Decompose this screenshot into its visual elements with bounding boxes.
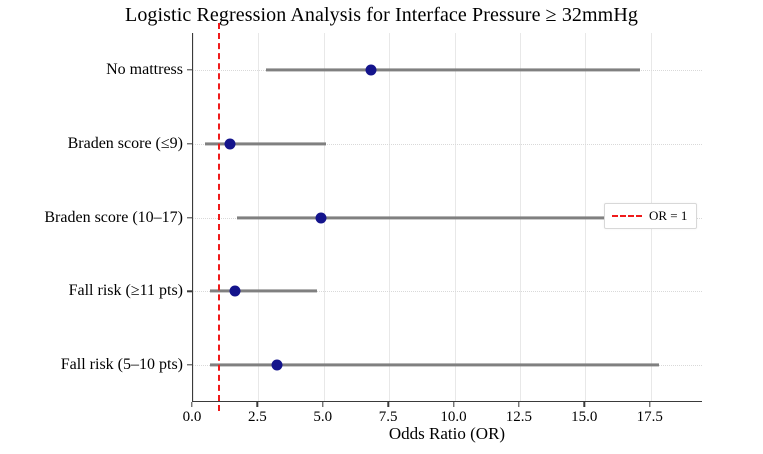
y-tick-mark bbox=[187, 291, 192, 292]
odds-ratio-point bbox=[224, 138, 235, 149]
x-tick-mark bbox=[257, 402, 258, 407]
x-axis-label: Odds Ratio (OR) bbox=[192, 424, 702, 444]
x-tick-mark bbox=[387, 402, 388, 407]
confidence-interval-bar bbox=[210, 290, 317, 293]
confidence-interval-bar bbox=[205, 142, 327, 145]
y-tick-label-category: Braden score (≤9) bbox=[68, 135, 183, 153]
y-tick-mark bbox=[187, 69, 192, 70]
legend-label-or-1: OR = 1 bbox=[649, 208, 687, 224]
x-tick-mark bbox=[584, 402, 585, 407]
odds-ratio-point bbox=[316, 212, 327, 223]
reference-line-or-1 bbox=[218, 23, 220, 411]
odds-ratio-point bbox=[271, 360, 282, 371]
confidence-interval-bar bbox=[266, 68, 640, 71]
reference-line-swatch-icon bbox=[612, 215, 642, 217]
y-tick-label-category: No mattress bbox=[106, 61, 183, 79]
odds-ratio-point bbox=[229, 286, 240, 297]
y-tick-label-category: Fall risk (5–10 pts) bbox=[61, 356, 183, 374]
x-tick-mark bbox=[191, 402, 192, 407]
y-tick-mark bbox=[187, 217, 192, 218]
x-tick-mark bbox=[322, 402, 323, 407]
x-tick-mark bbox=[453, 402, 454, 407]
odds-ratio-point bbox=[365, 64, 376, 75]
y-tick-mark bbox=[187, 364, 192, 365]
x-tick-mark bbox=[649, 402, 650, 407]
chart-title: Logistic Regression Analysis for Interfa… bbox=[0, 4, 763, 27]
y-tick-label-category: Fall risk (≥11 pts) bbox=[69, 282, 183, 300]
y-tick-label-category: Braden score (10–17) bbox=[44, 209, 183, 227]
confidence-interval-bar bbox=[237, 216, 637, 219]
y-tick-mark bbox=[187, 143, 192, 144]
forest-plot-figure: Logistic Regression Analysis for Interfa… bbox=[0, 0, 763, 454]
legend: OR = 1 bbox=[604, 203, 697, 229]
x-tick-mark bbox=[518, 402, 519, 407]
